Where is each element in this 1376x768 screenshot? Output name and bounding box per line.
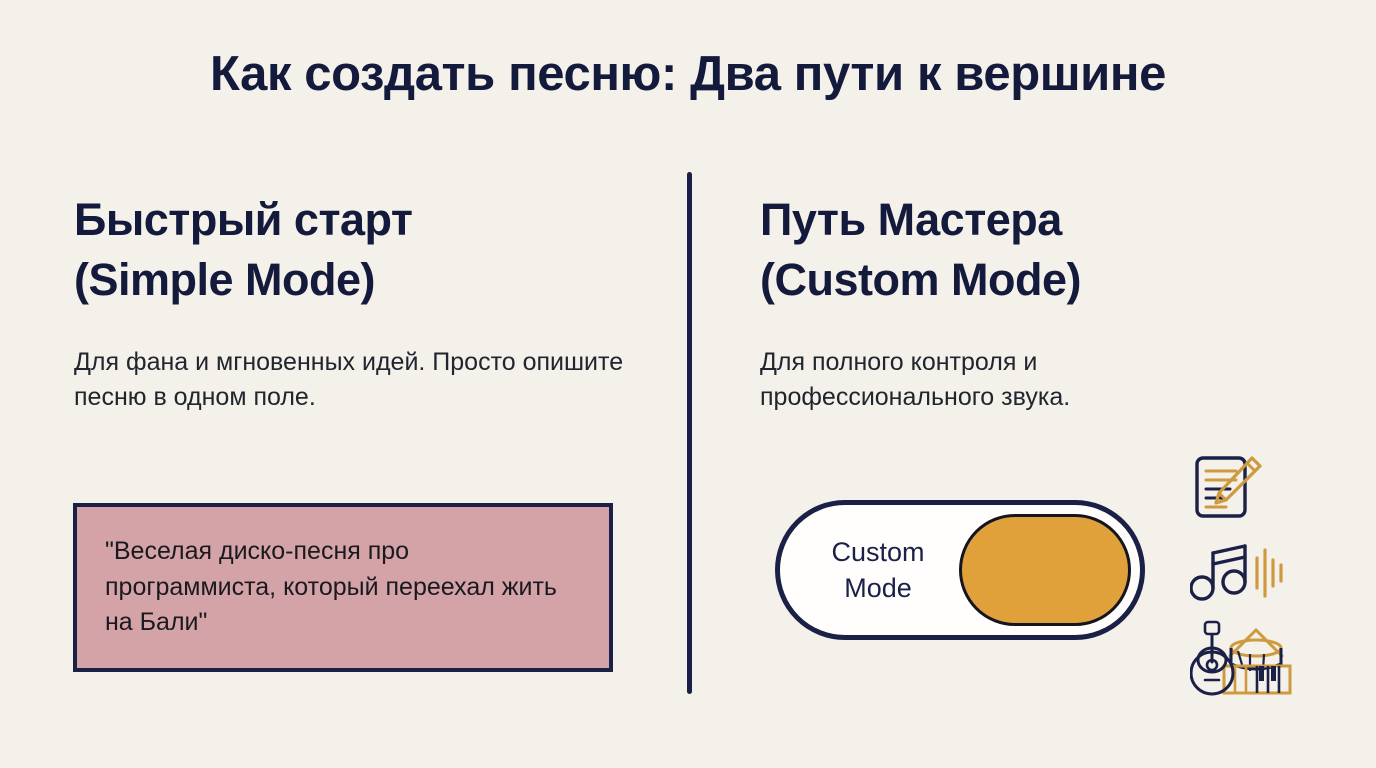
feature-icon-stack — [1190, 452, 1300, 692]
page-title: Как создать песню: Два пути к вершине — [0, 48, 1376, 102]
instruments-icon — [1190, 618, 1294, 701]
custom-mode-body: Для полного контроля и профессионального… — [760, 345, 1190, 414]
custom-mode-toggle-label: Custom Mode — [780, 534, 970, 607]
custom-mode-toggle-knob[interactable] — [959, 514, 1131, 626]
column-divider — [687, 172, 692, 694]
custom-mode-heading-line1: Путь Мастера — [760, 194, 1062, 245]
prompt-example-text: "Веселая диско-песня про программиста, к… — [77, 534, 609, 641]
column-custom-mode: Путь Мастера (Custom Mode) Для полного к… — [760, 190, 1180, 310]
simple-mode-heading-line1: Быстрый старт — [74, 194, 412, 245]
music-notes-waveform-icon — [1190, 540, 1290, 611]
document-pencil-icon — [1190, 452, 1264, 531]
simple-mode-heading: Быстрый старт (Simple Mode) — [74, 190, 644, 310]
simple-mode-body: Для фана и мгновенных идей. Просто опиши… — [74, 345, 634, 414]
toggle-label-line1: Custom — [831, 537, 924, 567]
slide-root: Как создать песню: Два пути к вершине Бы… — [0, 0, 1376, 768]
custom-mode-heading-line2: (Custom Mode) — [760, 254, 1081, 305]
simple-mode-heading-line2: (Simple Mode) — [74, 254, 375, 305]
custom-mode-heading: Путь Мастера (Custom Mode) — [760, 190, 1180, 310]
prompt-example-box[interactable]: "Веселая диско-песня про программиста, к… — [73, 503, 613, 672]
column-simple-mode: Быстрый старт (Simple Mode) Для фана и м… — [74, 190, 644, 310]
custom-mode-toggle[interactable]: Custom Mode — [775, 500, 1145, 640]
toggle-label-line2: Mode — [844, 573, 912, 603]
